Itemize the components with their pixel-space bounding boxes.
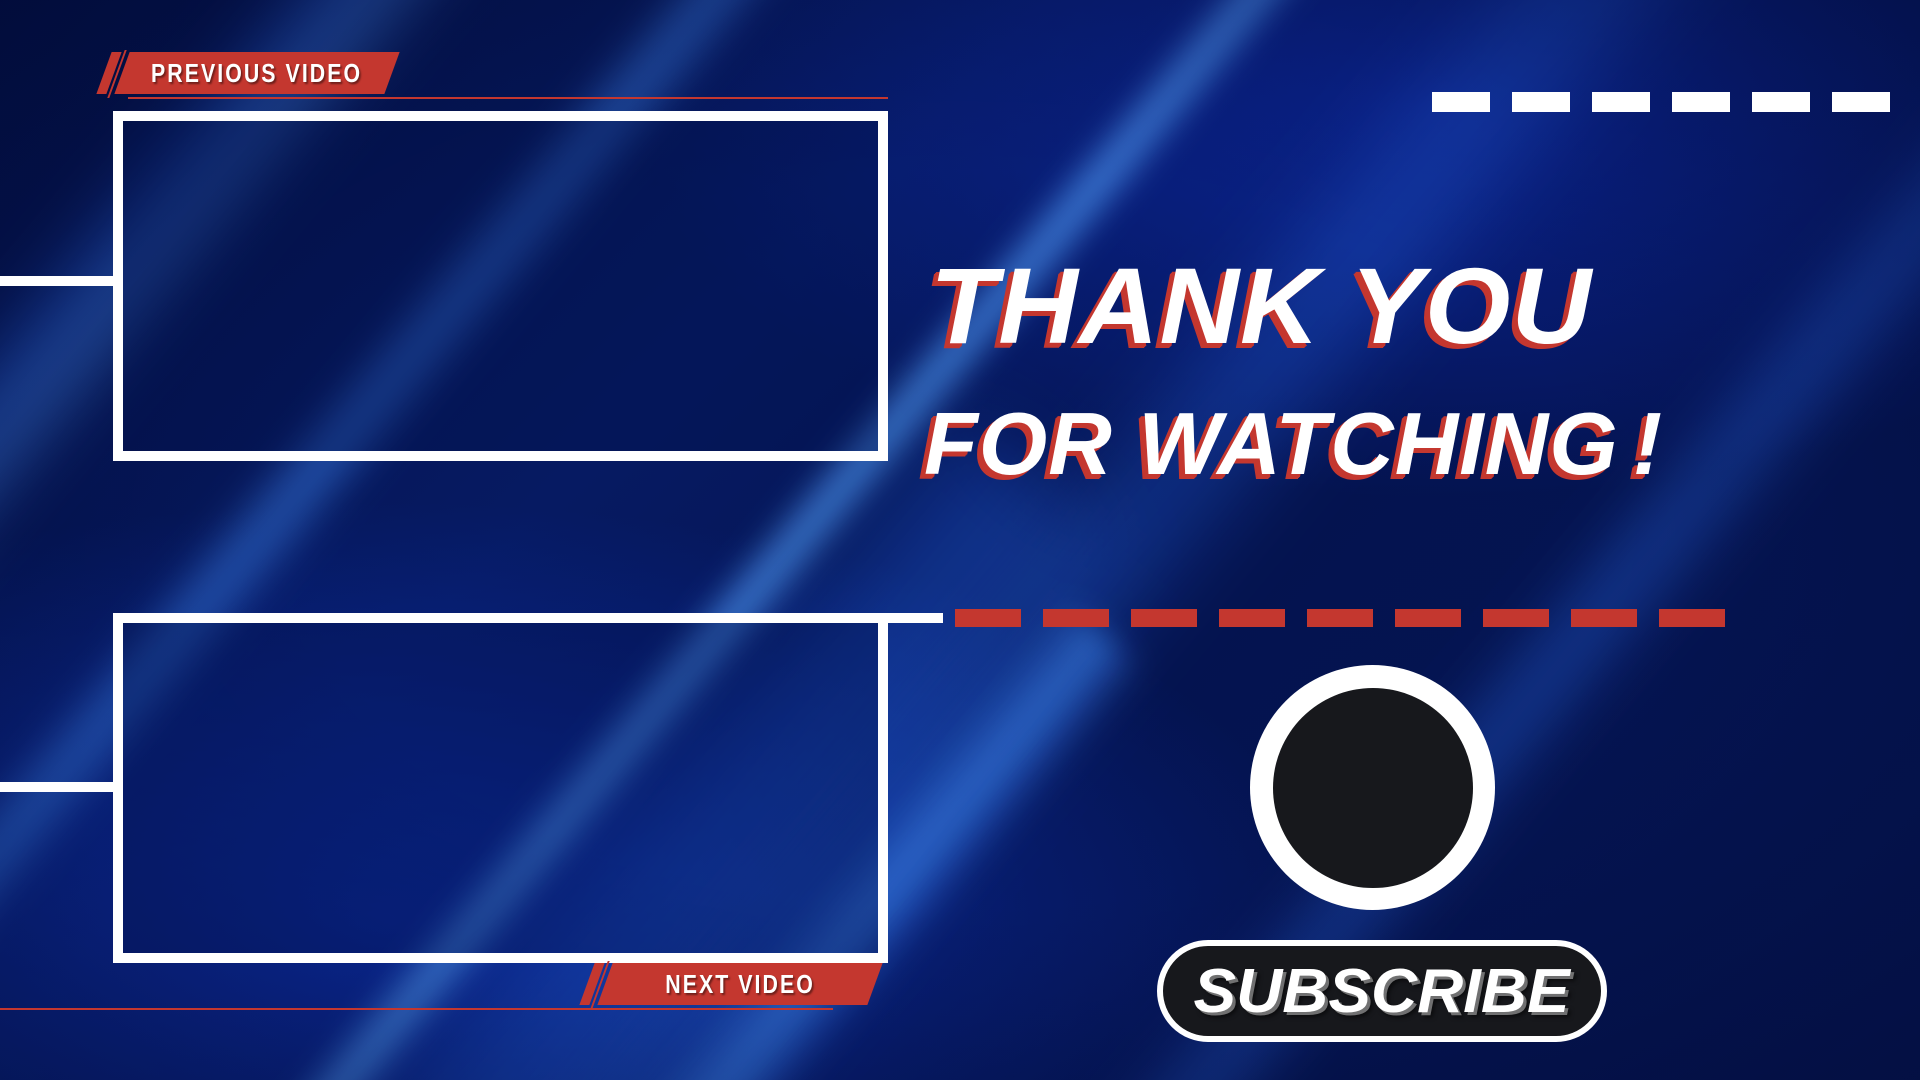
next-video-tab-label: NEXT VIDEO xyxy=(665,969,815,1000)
dash-segment xyxy=(1659,609,1725,627)
dash-segment xyxy=(1307,609,1373,627)
next-video-connector-line xyxy=(0,782,113,792)
dash-segment xyxy=(1672,92,1730,112)
dash-segment xyxy=(1043,609,1109,627)
subscribe-button[interactable]: SUBSCRIBE xyxy=(1157,940,1607,1042)
dash-segment xyxy=(1395,609,1461,627)
previous-video-slot[interactable] xyxy=(113,111,888,461)
dash-segment xyxy=(1832,92,1890,112)
subscribe-button-label: SUBSCRIBE xyxy=(1194,956,1570,1027)
dash-segment xyxy=(1219,609,1285,627)
dash-segment xyxy=(1571,609,1637,627)
channel-avatar-placeholder xyxy=(1273,688,1473,888)
headline-line-for-watching: FOR WATCHING! xyxy=(924,400,1830,488)
dash-segment xyxy=(955,609,1021,627)
headline-block: THANK YOU FOR WATCHING! xyxy=(930,252,1830,488)
dash-segment xyxy=(1752,92,1810,112)
previous-video-tab-label: PREVIOUS VIDEO xyxy=(151,58,362,89)
next-video-tab[interactable]: NEXT VIDEO xyxy=(597,963,882,1005)
headline-line-for-watching-text: FOR WATCHING xyxy=(924,394,1619,493)
channel-avatar[interactable] xyxy=(1250,665,1495,910)
headline-line-thank-you: THANK YOU xyxy=(930,252,1848,360)
headline-exclamation: ! xyxy=(1633,394,1663,493)
previous-video-underline xyxy=(128,97,888,99)
previous-video-connector-line xyxy=(0,276,113,286)
red-dashed-divider xyxy=(955,609,1725,627)
dash-segment xyxy=(1432,92,1490,112)
dash-segment xyxy=(1131,609,1197,627)
white-dashed-divider xyxy=(1432,92,1890,112)
next-video-slot[interactable] xyxy=(113,613,888,963)
next-video-underline xyxy=(0,1008,833,1010)
dash-segment xyxy=(1483,609,1549,627)
previous-video-tab[interactable]: PREVIOUS VIDEO xyxy=(114,52,399,94)
dash-segment xyxy=(1592,92,1650,112)
end-screen-canvas: PREVIOUS VIDEO NEXT VIDEO THANK YOU FOR … xyxy=(0,0,1920,1080)
dash-segment xyxy=(1512,92,1570,112)
